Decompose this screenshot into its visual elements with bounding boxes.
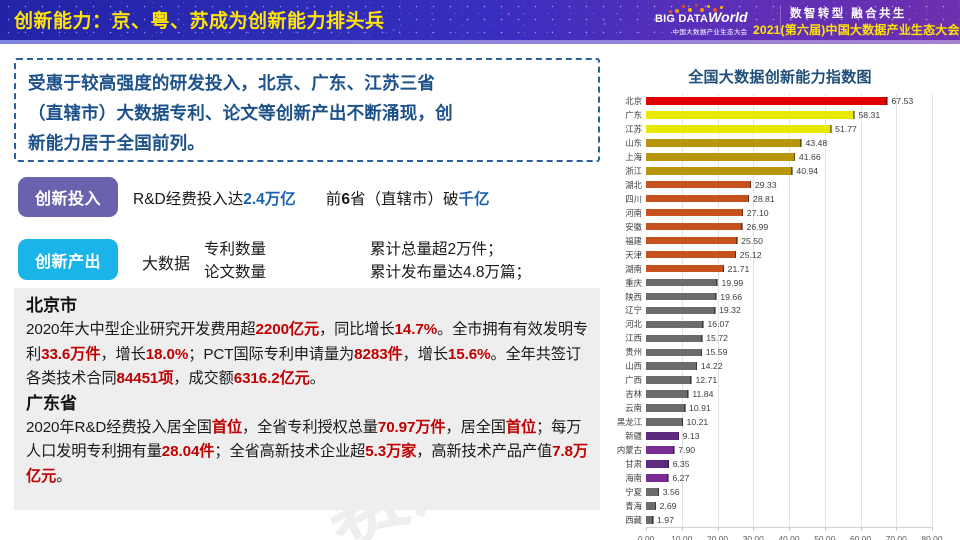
chart-bar[interactable]	[646, 125, 831, 133]
chart-x-tick-label: 40.00	[779, 534, 800, 540]
intro-line-3: 新能力居于全国前列。	[28, 128, 588, 158]
invest-text-c: 省（直辖市）破	[350, 191, 459, 208]
chart-bar-end-cap	[687, 390, 689, 398]
beijing-text-seg-0: 2020年大中型企业研究开发费用超	[26, 321, 256, 338]
chart-category-label: 宁夏	[625, 486, 642, 498]
chart-bar[interactable]	[646, 181, 751, 189]
chart-bar-end-cap	[750, 181, 752, 189]
chart-bar-end-cap	[668, 460, 670, 468]
investment-summary: R&D经费投入达2.4万亿前6省（直辖市）破千亿	[133, 187, 603, 209]
chart-bar-row[interactable]: 河北16.07	[646, 319, 932, 330]
chart-bar-row[interactable]: 安徽26.99	[646, 221, 932, 232]
chart-bar[interactable]	[646, 418, 683, 426]
chart-bar-row[interactable]: 浙江40.94	[646, 165, 932, 176]
chart-value-label: 10.91	[689, 403, 711, 413]
chart-bar-row[interactable]: 陕西19.66	[646, 291, 932, 302]
output-result-papers: 累计发布量达4.8万篇；	[370, 261, 531, 284]
regional-detail-panel: 北京市 2020年大中型企业研究开发费用超2200亿元，同比增长14.7%。全市…	[14, 288, 600, 510]
chart-x-tick-label: 50.00	[814, 534, 835, 540]
chart-value-label: 41.66	[799, 152, 821, 162]
beijing-body: 2020年大中型企业研究开发费用超2200亿元，同比增长14.7%。全市拥有有效…	[26, 318, 592, 392]
header-slogan-primary: 数智转型 融合共生	[790, 5, 907, 21]
chart-bar-end-cap	[658, 488, 660, 496]
chart-bar-end-cap	[684, 404, 686, 412]
chart-category-label: 贵州	[625, 346, 642, 358]
beijing-text-seg-13: 84451项	[117, 370, 174, 387]
chart-bar[interactable]	[646, 502, 656, 510]
chart-value-label: 11.84	[692, 389, 713, 399]
chart-bar-end-cap	[701, 335, 703, 343]
chart-title: 全国大数据创新能力指数图	[605, 66, 955, 87]
header-slogan-secondary: 2021(第六届)中国大数据产业生态大会	[753, 21, 960, 38]
chart-bar-row[interactable]: 甘肃6.35	[646, 458, 932, 469]
chart-bar[interactable]	[646, 376, 691, 384]
chart-category-label: 广西	[625, 374, 642, 386]
bar-chart-plot-area: 0.0010.0020.0030.0040.0050.0060.0070.008…	[646, 94, 932, 540]
chart-bar-end-cap	[702, 321, 704, 329]
beijing-text-seg-3: 14.7%	[395, 321, 438, 338]
chart-x-tick-label: 0.00	[638, 534, 654, 540]
chart-value-label: 25.50	[741, 236, 763, 246]
chart-category-label: 江西	[625, 332, 642, 344]
chart-x-tick-label: 20.00	[707, 534, 728, 540]
chart-category-label: 上海	[625, 151, 642, 163]
chart-bar-end-cap	[791, 167, 793, 175]
chart-bar-end-cap	[736, 237, 738, 245]
chart-value-label: 10.21	[687, 417, 709, 427]
page-title: 创新能力：京、粤、苏成为创新能力排头兵	[14, 6, 385, 33]
guangdong-text-seg-2: ，全省专利授权总量	[242, 419, 378, 436]
guangdong-text-seg-9: 5.3万家	[365, 443, 416, 460]
chart-value-label: 14.22	[701, 361, 723, 371]
chart-bar-row[interactable]: 江苏51.77	[646, 123, 932, 134]
chart-bar-row[interactable]: 福建25.50	[646, 235, 932, 246]
chart-value-label: 28.81	[753, 194, 775, 204]
chart-category-label: 北京	[625, 95, 642, 107]
logo-world-text: World	[708, 9, 747, 25]
chart-bar[interactable]	[646, 474, 668, 482]
chart-value-label: 67.53	[891, 96, 913, 106]
chart-bar[interactable]	[646, 446, 674, 454]
chart-category-label: 西藏	[625, 514, 642, 526]
guangdong-text-seg-5: 首位	[506, 419, 536, 436]
chart-value-label: 29.33	[755, 180, 777, 190]
output-item-papers: 论文数量	[204, 261, 266, 284]
beijing-text-seg-11: 15.6%	[448, 346, 491, 363]
chart-bar-end-cap	[830, 125, 832, 133]
intro-callout-box: 受惠于较高强度的研发投入，北京、广东、江苏三省 （直辖市）大数据专利、论文等创新…	[14, 58, 600, 162]
guangdong-heading: 广东省	[26, 392, 592, 416]
chart-value-label: 12.71	[695, 375, 717, 385]
chart-category-label: 甘肃	[625, 458, 642, 470]
chart-bar[interactable]	[646, 167, 792, 175]
beijing-text-seg-7: 18.0%	[146, 346, 189, 363]
intro-line-2: （直辖市）大数据专利、论文等创新产出不断涌现，创	[28, 98, 588, 128]
beijing-text-seg-9: 8283件	[354, 346, 402, 363]
beijing-text-seg-16: 。	[310, 370, 325, 387]
logo-subtitle: 中国大数据产业生态大会	[655, 26, 765, 36]
chart-bar-row[interactable]: 吉林11.84	[646, 389, 932, 400]
chart-bar-row[interactable]: 贵州15.59	[646, 347, 932, 358]
chart-bar-row[interactable]: 河南27.10	[646, 207, 932, 218]
chart-bar-end-cap	[652, 516, 654, 524]
bigdata-world-logo: BIG DATAWorld 中国大数据产业生态大会	[655, 2, 765, 38]
guangdong-text-seg-1: 首位	[212, 419, 242, 436]
chart-bar-end-cap	[678, 432, 680, 440]
chart-bar[interactable]	[646, 390, 688, 398]
chart-bar-row[interactable]: 辽宁19.32	[646, 305, 932, 316]
chart-bar[interactable]	[646, 321, 703, 329]
beijing-text-seg-14: ，成交额	[173, 370, 233, 387]
chart-category-label: 福建	[625, 235, 642, 247]
chart-value-label: 6.35	[673, 459, 690, 469]
invest-text-a: R&D经费投入达	[133, 191, 243, 208]
beijing-text-seg-2: ，同比增长	[319, 321, 394, 338]
header-underline	[0, 40, 960, 44]
chart-bar-row[interactable]: 黑龙江10.21	[646, 417, 932, 428]
invest-value-a: 2.4万亿	[243, 191, 296, 208]
beijing-text-seg-8: ；PCT国际专利申请量为	[188, 346, 354, 363]
chart-value-label: 40.94	[796, 166, 818, 176]
invest-text-b: 前	[326, 191, 342, 208]
chart-bar-end-cap	[682, 418, 684, 426]
logo-bigdata-text: BIG DATA	[655, 13, 708, 25]
chart-bar[interactable]	[646, 97, 887, 105]
chart-value-label: 9.13	[683, 431, 700, 441]
chart-panel: 全国大数据创新能力指数图 0.0010.0020.0030.0040.0050.…	[605, 58, 955, 528]
chart-bar[interactable]	[646, 460, 669, 468]
chart-bar-row[interactable]: 四川28.81	[646, 193, 932, 204]
chart-bar-end-cap	[794, 153, 796, 161]
chart-value-label: 15.72	[706, 333, 728, 343]
chart-bar-row[interactable]: 内蒙古7.90	[646, 444, 932, 455]
chart-category-label: 陕西	[625, 291, 642, 303]
chart-bar[interactable]	[646, 307, 715, 315]
output-items: 专利数量 论文数量	[204, 238, 266, 284]
chart-bar-row[interactable]: 青海2.69	[646, 500, 932, 511]
chart-bar[interactable]	[646, 404, 685, 412]
chart-value-label: 3.56	[663, 487, 680, 497]
invest-value-b: 6	[341, 191, 350, 208]
chart-category-label: 新疆	[625, 430, 642, 442]
chart-category-label: 山西	[625, 360, 642, 372]
chart-bar-row[interactable]: 天津25.12	[646, 249, 932, 260]
chart-value-label: 1.97	[657, 515, 674, 525]
chart-bar[interactable]	[646, 153, 795, 161]
output-item-patents: 专利数量	[204, 238, 266, 261]
chart-category-label: 内蒙古	[617, 444, 642, 456]
chart-bar-row[interactable]: 云南10.91	[646, 403, 932, 414]
guangdong-text-seg-10: ，高新技术产品产值	[416, 443, 552, 460]
chart-category-label: 河南	[625, 207, 642, 219]
chart-bar[interactable]	[646, 139, 801, 147]
chart-value-label: 15.59	[706, 347, 728, 357]
chart-value-label: 58.31	[858, 110, 880, 120]
chart-bar-end-cap	[742, 209, 744, 217]
chart-x-tick-label: 70.00	[886, 534, 907, 540]
chart-value-label: 2.69	[660, 501, 677, 511]
chart-bar-end-cap	[715, 293, 717, 301]
chart-category-label: 黑龙江	[617, 416, 642, 428]
chart-category-label: 广东	[625, 109, 642, 121]
chart-category-label: 天津	[625, 249, 642, 261]
chart-bar[interactable]	[646, 488, 659, 496]
beijing-heading: 北京市	[26, 294, 592, 318]
chart-bar-end-cap	[714, 307, 716, 315]
chart-category-label: 山东	[625, 137, 642, 149]
chart-value-label: 21.71	[728, 264, 750, 274]
chart-category-label: 青海	[625, 500, 642, 512]
chart-category-label: 辽宁	[625, 304, 642, 316]
chart-bar-end-cap	[735, 251, 737, 259]
chart-bar-row[interactable]: 西藏1.97	[646, 514, 932, 525]
chart-bar[interactable]	[646, 349, 702, 357]
chart-value-label: 27.10	[747, 208, 769, 218]
chart-value-label: 26.99	[746, 222, 768, 232]
chart-value-label: 51.77	[835, 124, 857, 134]
chart-bar-end-cap	[673, 446, 675, 454]
intro-line-1: 受惠于较高强度的研发投入，北京、广东、江苏三省	[28, 68, 588, 98]
chart-category-label: 浙江	[625, 165, 642, 177]
logo-wordmark: BIG DATAWorld	[655, 12, 765, 25]
guangdong-text-seg-7: 28.04件	[162, 443, 215, 460]
chart-bar[interactable]	[646, 223, 742, 231]
chart-bar-row[interactable]: 江西15.72	[646, 333, 932, 344]
chart-bar[interactable]	[646, 335, 702, 343]
chart-bar[interactable]	[646, 251, 736, 259]
chart-x-tick-label: 60.00	[850, 534, 871, 540]
guangdong-text-seg-4: ，居全国	[446, 419, 506, 436]
chart-bar-row[interactable]: 海南6.27	[646, 472, 932, 483]
chart-category-label: 安徽	[625, 221, 642, 233]
chart-category-label: 湖南	[625, 263, 642, 275]
chart-bar-row[interactable]: 湖南21.71	[646, 263, 932, 274]
chart-bar-row[interactable]: 山西14.22	[646, 361, 932, 372]
chart-bar-row[interactable]: 上海41.66	[646, 151, 932, 162]
output-result-patents: 累计总量超2万件；	[370, 238, 531, 261]
beijing-text-seg-10: ，增长	[403, 346, 448, 363]
chart-bar-end-cap	[667, 474, 669, 482]
beijing-text-seg-1: 2200亿元	[256, 321, 320, 338]
guangdong-body: 2020年R&D经费投入居全国首位，全省专利授权总量70.97万件，居全国首位；…	[26, 416, 592, 490]
chart-bar-row[interactable]: 山东43.48	[646, 137, 932, 148]
chart-bar[interactable]	[646, 432, 679, 440]
chart-gridline	[932, 94, 933, 527]
chart-bar[interactable]	[646, 362, 697, 370]
guangdong-text-seg-8: ；全省高新技术企业超	[214, 443, 365, 460]
chart-bar[interactable]	[646, 209, 743, 217]
chart-bar-row[interactable]: 北京67.53	[646, 95, 932, 106]
output-results: 累计总量超2万件； 累计发布量达4.8万篇；	[370, 238, 531, 284]
chart-bar-end-cap	[800, 139, 802, 147]
chart-category-label: 云南	[625, 402, 642, 414]
chart-bar[interactable]	[646, 195, 749, 203]
chart-bar-row[interactable]: 重庆19.99	[646, 277, 932, 288]
chart-bar[interactable]	[646, 237, 737, 245]
chart-value-label: 6.27	[672, 473, 689, 483]
beijing-text-seg-15: 6316.2亿元	[234, 370, 310, 387]
chart-bar-row[interactable]: 广西12.71	[646, 375, 932, 386]
chart-category-label: 湖北	[625, 179, 642, 191]
chart-value-label: 25.12	[740, 250, 762, 260]
chart-bar[interactable]	[646, 293, 716, 301]
chart-bar-end-cap	[716, 279, 718, 287]
chart-category-label: 四川	[625, 193, 642, 205]
chart-bar[interactable]	[646, 265, 724, 273]
chart-bar-end-cap	[690, 376, 692, 384]
chart-bar-end-cap	[853, 111, 855, 119]
chart-bar-end-cap	[655, 502, 657, 510]
chart-value-label: 19.66	[720, 292, 742, 302]
chart-bar-end-cap	[748, 195, 750, 203]
chart-bar[interactable]	[646, 516, 653, 524]
chart-bar-end-cap	[886, 97, 888, 105]
beijing-text-seg-5: 33.6万件	[41, 346, 100, 363]
beijing-text-seg-6: ，增长	[100, 346, 145, 363]
invest-value-c: 千亿	[458, 191, 489, 208]
chart-bar[interactable]	[646, 111, 854, 119]
chart-category-label: 海南	[625, 472, 642, 484]
output-summary: 大数据 专利数量 论文数量 累计总量超2万件； 累计发布量达4.8万篇；	[142, 238, 602, 284]
tag-innovation-investment: 创新投入	[18, 177, 118, 217]
chart-bar-row[interactable]: 广东58.31	[646, 109, 932, 120]
chart-x-tick-label: 30.00	[743, 534, 764, 540]
chart-value-label: 43.48	[805, 138, 827, 148]
chart-bar-row[interactable]: 宁夏3.56	[646, 486, 932, 497]
chart-value-label: 19.99	[721, 278, 743, 288]
chart-x-axis	[646, 527, 933, 528]
chart-category-label: 重庆	[625, 277, 642, 289]
output-prefix: 大数据	[142, 250, 190, 274]
chart-category-label: 江苏	[625, 123, 642, 135]
slide-header: 创新能力：京、粤、苏成为创新能力排头兵 BIG DATAWorld 中国大数据产…	[0, 0, 960, 40]
chart-bar-end-cap	[723, 265, 725, 273]
chart-category-label: 吉林	[625, 388, 642, 400]
guangdong-text-seg-0: 2020年R&D经费投入居全国	[26, 419, 212, 436]
chart-bar-end-cap	[701, 349, 703, 357]
chart-bar[interactable]	[646, 279, 717, 287]
chart-x-tick-label: 80.00	[922, 534, 943, 540]
chart-bar-end-cap	[741, 223, 743, 231]
chart-x-tick-label: 10.00	[671, 534, 692, 540]
slide-root: 创新能力：京、粤、苏成为创新能力排头兵 BIG DATAWorld 中国大数据产…	[0, 0, 960, 540]
tag-innovation-output: 创新产出	[18, 239, 118, 280]
chart-value-label: 16.07	[707, 319, 729, 329]
chart-bar-end-cap	[696, 362, 698, 370]
chart-value-label: 7.90	[678, 445, 695, 455]
guangdong-text-seg-12: 。	[56, 468, 71, 485]
chart-bar-row[interactable]: 新疆9.13	[646, 431, 932, 442]
chart-category-label: 河北	[625, 318, 642, 330]
chart-value-label: 19.32	[719, 305, 741, 315]
guangdong-text-seg-3: 70.97万件	[378, 419, 446, 436]
chart-bar-row[interactable]: 湖北29.33	[646, 179, 932, 190]
